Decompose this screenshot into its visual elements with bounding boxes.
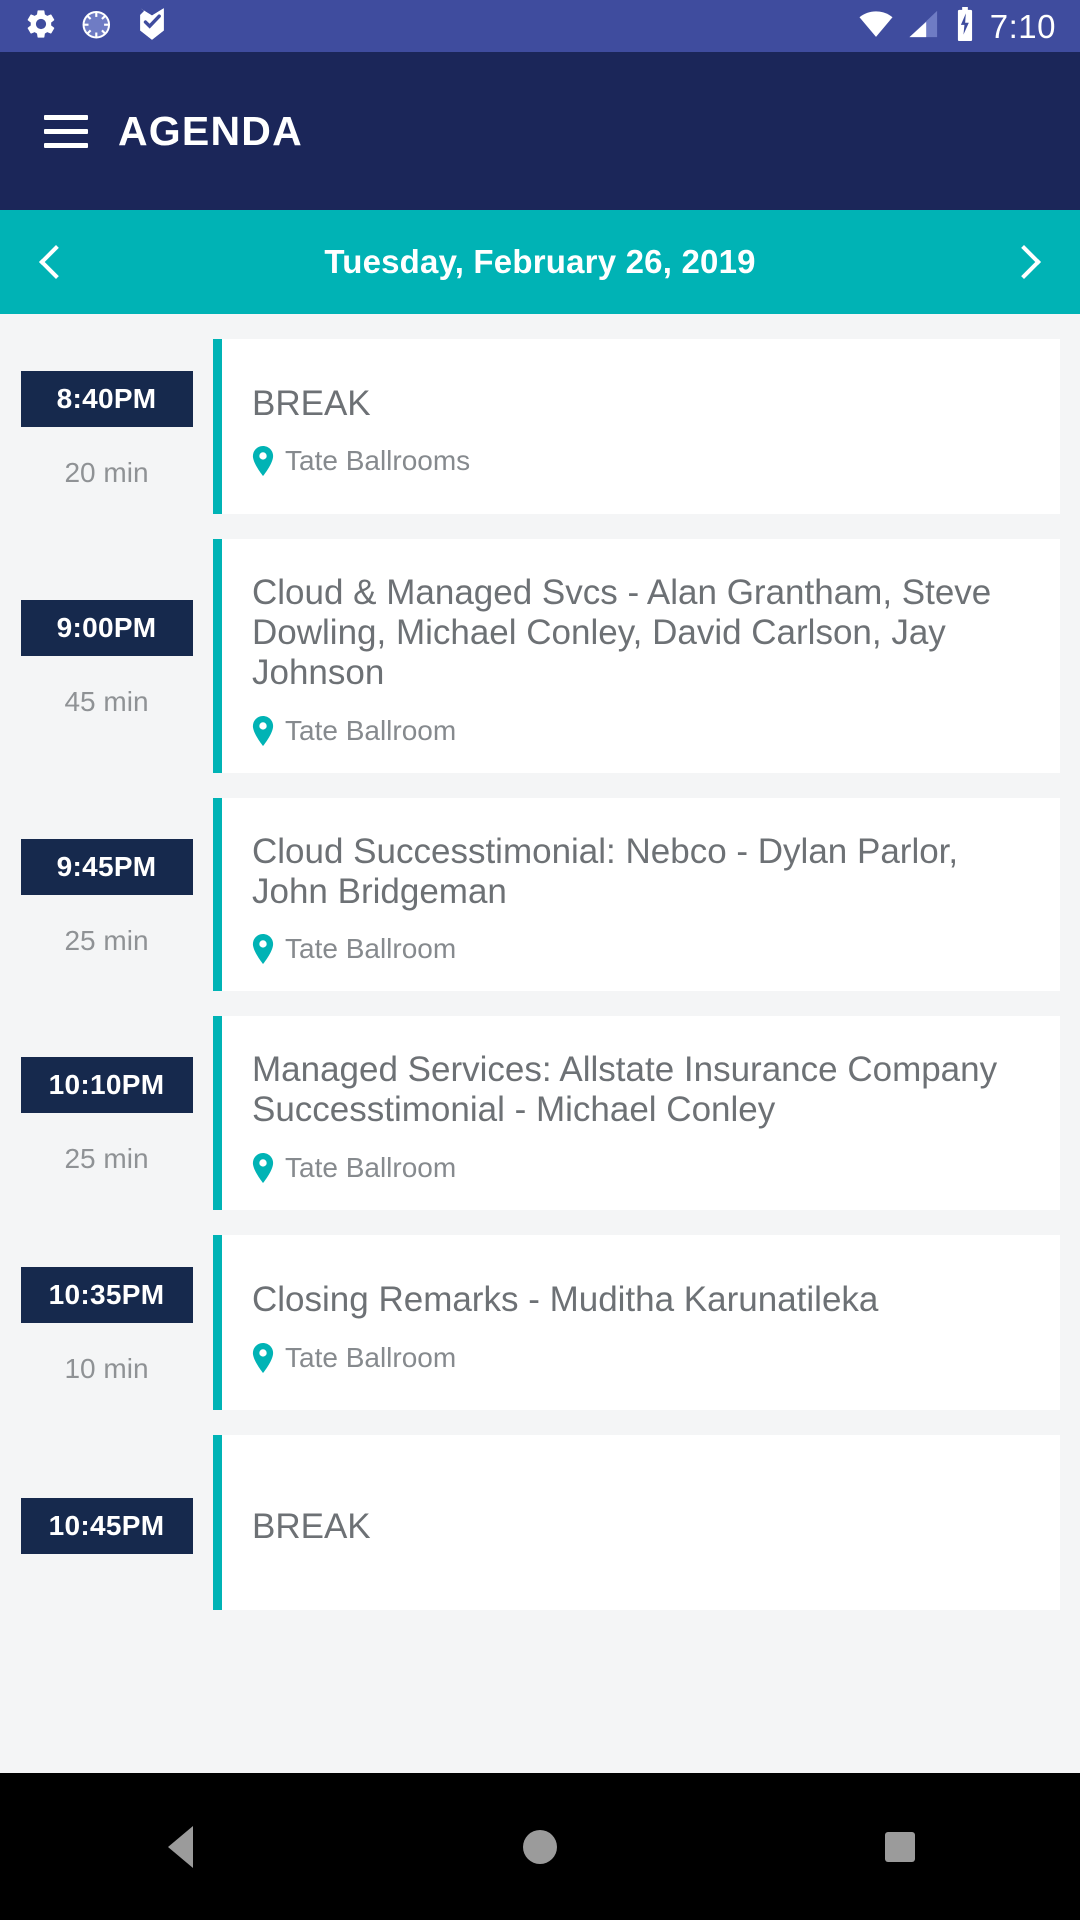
agenda-item-location: Tate Ballroom xyxy=(252,933,1030,965)
map-pin-icon xyxy=(252,1153,274,1183)
agenda-item-duration: 20 min xyxy=(64,457,148,489)
cell-signal-icon xyxy=(908,9,940,44)
gear-icon xyxy=(24,7,58,46)
chevron-right-icon[interactable] xyxy=(998,236,1050,288)
agenda-item-card[interactable]: Managed Services: Allstate Insurance Com… xyxy=(213,1016,1060,1210)
checkmark-flag-icon xyxy=(136,7,168,46)
agenda-item-time-column: 8:40PM20 min xyxy=(0,339,213,514)
phone-screen: 7:10 AGENDA Tuesday, February 26, 2019 8… xyxy=(0,0,1080,1920)
agenda-item-time-column: 10:45PM xyxy=(0,1435,213,1610)
agenda-item-time-badge: 10:45PM xyxy=(21,1498,193,1554)
agenda-item-location: Tate Ballroom xyxy=(252,715,1030,747)
agenda-item-location: Tate Ballrooms xyxy=(252,445,1030,477)
chevron-left-icon[interactable] xyxy=(30,236,82,288)
agenda-item-card[interactable]: Cloud & Managed Svcs - Alan Grantham, St… xyxy=(213,539,1060,773)
agenda-item-location-label: Tate Ballroom xyxy=(285,715,456,747)
agenda-item-time-column: 9:45PM25 min xyxy=(0,798,213,992)
agenda-item-time-badge: 10:35PM xyxy=(21,1267,193,1323)
agenda-item-time-badge: 10:10PM xyxy=(21,1057,193,1113)
recents-square-icon[interactable] xyxy=(840,1787,960,1907)
agenda-item-duration: 10 min xyxy=(64,1353,148,1385)
date-navigation-bar: Tuesday, February 26, 2019 xyxy=(0,210,1080,314)
agenda-item-card[interactable]: BREAKTate Ballrooms xyxy=(213,339,1060,514)
agenda-item-title: BREAK xyxy=(252,384,1030,424)
map-pin-icon xyxy=(252,716,274,746)
agenda-item-title: Cloud & Managed Svcs - Alan Grantham, St… xyxy=(252,573,1030,693)
hamburger-line xyxy=(44,143,88,148)
agenda-item-time-badge: 9:00PM xyxy=(21,600,193,656)
agenda-item-duration: 25 min xyxy=(64,1143,148,1175)
agenda-item-duration: 45 min xyxy=(64,686,148,718)
status-bar-left-icons xyxy=(24,7,168,46)
agenda-item-title: Closing Remarks - Muditha Karunatileka xyxy=(252,1280,1030,1320)
battery-charging-icon xyxy=(954,7,976,46)
agenda-item-location-label: Tate Ballroom xyxy=(285,1342,456,1374)
hamburger-line xyxy=(44,129,88,134)
agenda-item-time-column: 10:35PM10 min xyxy=(0,1235,213,1410)
agenda-item-duration: 25 min xyxy=(64,925,148,957)
status-bar-clock: 7:10 xyxy=(990,10,1056,43)
sync-spinner-icon xyxy=(80,7,114,46)
agenda-item-title: BREAK xyxy=(252,1507,1030,1547)
app-bar: AGENDA xyxy=(0,52,1080,210)
agenda-item-time-badge: 9:45PM xyxy=(21,839,193,895)
agenda-item[interactable]: 9:00PM45 minCloud & Managed Svcs - Alan … xyxy=(0,514,1080,773)
status-bar-right-icons: 7:10 xyxy=(858,7,1056,46)
map-pin-icon xyxy=(252,1343,274,1373)
agenda-item[interactable]: 10:10PM25 minManaged Services: Allstate … xyxy=(0,991,1080,1210)
agenda-item-card[interactable]: Closing Remarks - Muditha KarunatilekaTa… xyxy=(213,1235,1060,1410)
agenda-item-location-label: Tate Ballrooms xyxy=(285,445,470,477)
agenda-item-location-label: Tate Ballroom xyxy=(285,1152,456,1184)
agenda-item-title: Managed Services: Allstate Insurance Com… xyxy=(252,1050,1030,1130)
agenda-list[interactable]: 8:40PM20 minBREAKTate Ballrooms9:00PM45 … xyxy=(0,314,1080,1610)
agenda-item-time-badge: 8:40PM xyxy=(21,371,193,427)
current-date-label: Tuesday, February 26, 2019 xyxy=(82,243,998,281)
status-bar: 7:10 xyxy=(0,0,1080,52)
back-triangle-icon[interactable] xyxy=(120,1787,240,1907)
agenda-item-time-column: 10:10PM25 min xyxy=(0,1016,213,1210)
home-circle-icon[interactable] xyxy=(480,1787,600,1907)
agenda-item[interactable]: 9:45PM25 minCloud Successtimonial: Nebco… xyxy=(0,773,1080,992)
agenda-item[interactable]: 10:35PM10 minClosing Remarks - Muditha K… xyxy=(0,1210,1080,1410)
map-pin-icon xyxy=(252,934,274,964)
agenda-item-card[interactable]: Cloud Successtimonial: Nebco - Dylan Par… xyxy=(213,798,1060,992)
wifi-icon xyxy=(858,9,894,44)
agenda-item-location: Tate Ballroom xyxy=(252,1152,1030,1184)
map-pin-icon xyxy=(252,446,274,476)
agenda-item-time-column: 9:00PM45 min xyxy=(0,539,213,773)
agenda-item-location-label: Tate Ballroom xyxy=(285,933,456,965)
hamburger-menu-icon[interactable] xyxy=(44,115,88,148)
agenda-item-title: Cloud Successtimonial: Nebco - Dylan Par… xyxy=(252,832,1030,912)
agenda-item-card[interactable]: BREAK xyxy=(213,1435,1060,1610)
hamburger-line xyxy=(44,115,88,120)
agenda-item-location: Tate Ballroom xyxy=(252,1342,1030,1374)
agenda-item[interactable]: 8:40PM20 minBREAKTate Ballrooms xyxy=(0,314,1080,514)
android-navigation-bar xyxy=(0,1773,1080,1920)
agenda-item[interactable]: 10:45PMBREAK xyxy=(0,1410,1080,1610)
page-title: AGENDA xyxy=(118,108,303,155)
